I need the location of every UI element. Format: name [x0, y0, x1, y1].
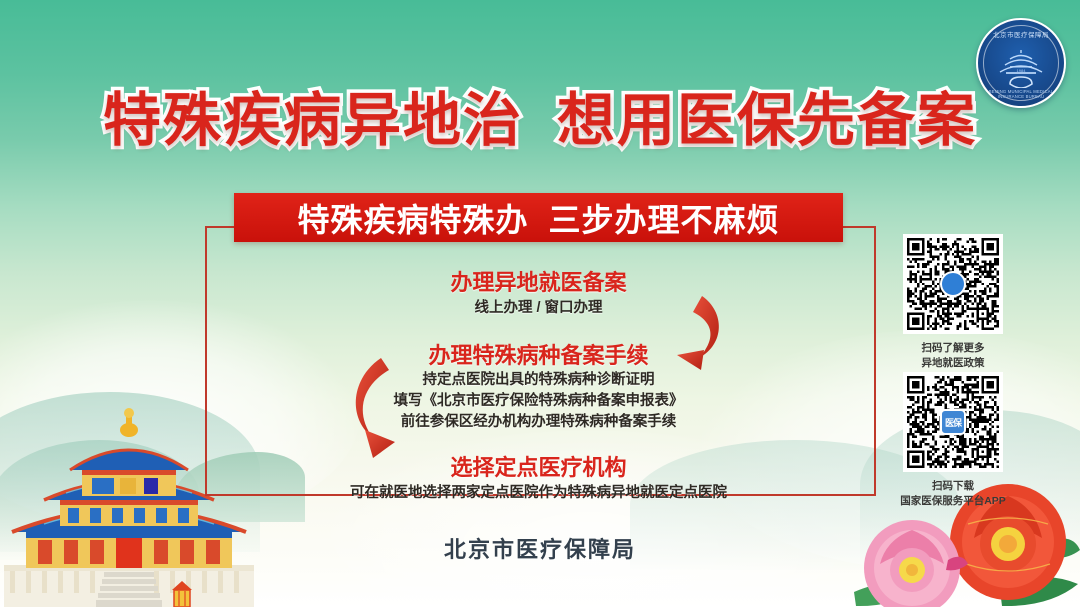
step-2-line-3: 前往参保区经办机构办理特殊病种备案手续 — [205, 412, 872, 433]
step-1-title: 办理异地就医备案 — [205, 268, 872, 298]
qr-block-policy[interactable]: 扫码了解更多 异地就医政策 — [888, 234, 1018, 371]
step-item-1: 办理异地就医备案 线上办理 / 窗口办理 — [205, 268, 872, 319]
policy-qr-caption-line2: 异地就医政策 — [888, 356, 1018, 371]
step-2-title: 办理特殊病种备案手续 — [205, 341, 872, 371]
step-item-2: 办理特殊病种备案手续 持定点医院出具的特殊病种诊断证明 填写《北京市医疗保险特殊… — [205, 341, 872, 434]
steps-list: 办理异地就医备案 线上办理 / 窗口办理 办理特殊病种备案手续 持定点医院出具的… — [205, 248, 872, 492]
app-download-qr-code-image[interactable]: 医保 — [903, 372, 1003, 472]
policy-qr-center-badge — [940, 271, 966, 297]
step-2-line-1: 持定点医院出具的特殊病种诊断证明 — [205, 370, 872, 391]
policy-qr-caption-line1: 扫码了解更多 — [888, 341, 1018, 356]
page-title-part2: 想用医保先备案 — [557, 88, 977, 153]
step-1-line-1: 线上办理 / 窗口办理 — [205, 298, 872, 319]
svg-text:1984: 1984 — [1017, 68, 1027, 73]
step-3-line-1: 可在就医地选择两家定点医院作为特殊病异地就医定点医院 — [205, 483, 872, 504]
app-qr-caption-line1: 扫码下载 — [888, 479, 1018, 494]
step-3-title: 选择定点医疗机构 — [205, 453, 872, 483]
app-qr-caption-line2: 国家医保服务平台APP — [888, 494, 1018, 509]
app-download-qr-center-badge: 医保 — [940, 409, 966, 435]
app-download-qr-caption: 扫码下载 国家医保服务平台APP — [888, 479, 1018, 509]
subtitle-banner: 特殊疾病特殊办三步办理不麻烦 — [234, 193, 843, 242]
organization-footer: 北京市医疗保障局 — [0, 532, 1080, 564]
poster-canvas: 北京市医疗保障局 1984 BEIJING MUNICIPAL MEDICAL … — [0, 0, 1080, 607]
step-item-3: 选择定点医疗机构 可在就医地选择两家定点医院作为特殊病异地就医定点医院 — [205, 453, 872, 504]
logo-temple-icon: 1984 — [994, 48, 1048, 88]
policy-qr-code-image[interactable] — [903, 234, 1003, 334]
step-2-line-2: 填写《北京市医疗保险特殊病种备案申报表》 — [205, 391, 872, 412]
banner-part2: 三步办理不麻烦 — [549, 195, 780, 241]
page-title: 特殊疾病异地治想用医保先备案 — [0, 92, 1080, 150]
logo-top-text: 北京市医疗保障局 — [978, 29, 1064, 39]
qr-block-app-download[interactable]: 医保 扫码下载 国家医保服务平台APP — [888, 372, 1018, 509]
banner-part1: 特殊疾病特殊办 — [297, 195, 528, 241]
policy-qr-caption: 扫码了解更多 异地就医政策 — [888, 341, 1018, 371]
page-title-part1: 特殊疾病异地治 — [103, 88, 523, 153]
